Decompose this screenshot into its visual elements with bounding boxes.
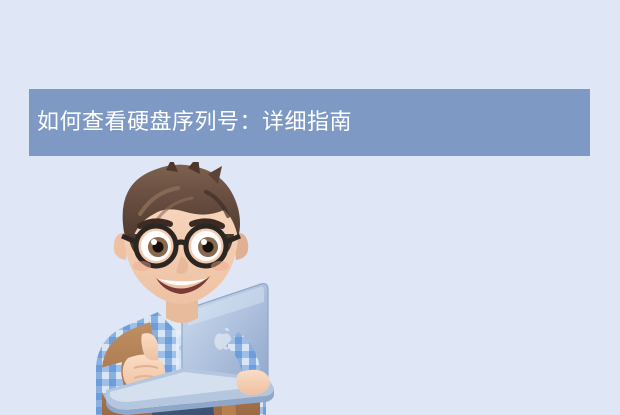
page-title: 如何查看硬盘序列号：详细指南 [37, 112, 352, 134]
title-banner: 如何查看硬盘序列号：详细指南 [29, 89, 590, 156]
page-root: 如何查看硬盘序列号：详细指南 [0, 0, 620, 415]
illustration-svg [88, 162, 274, 415]
character-head [114, 162, 249, 304]
illustration-cartoon-man-with-laptop [88, 162, 274, 415]
